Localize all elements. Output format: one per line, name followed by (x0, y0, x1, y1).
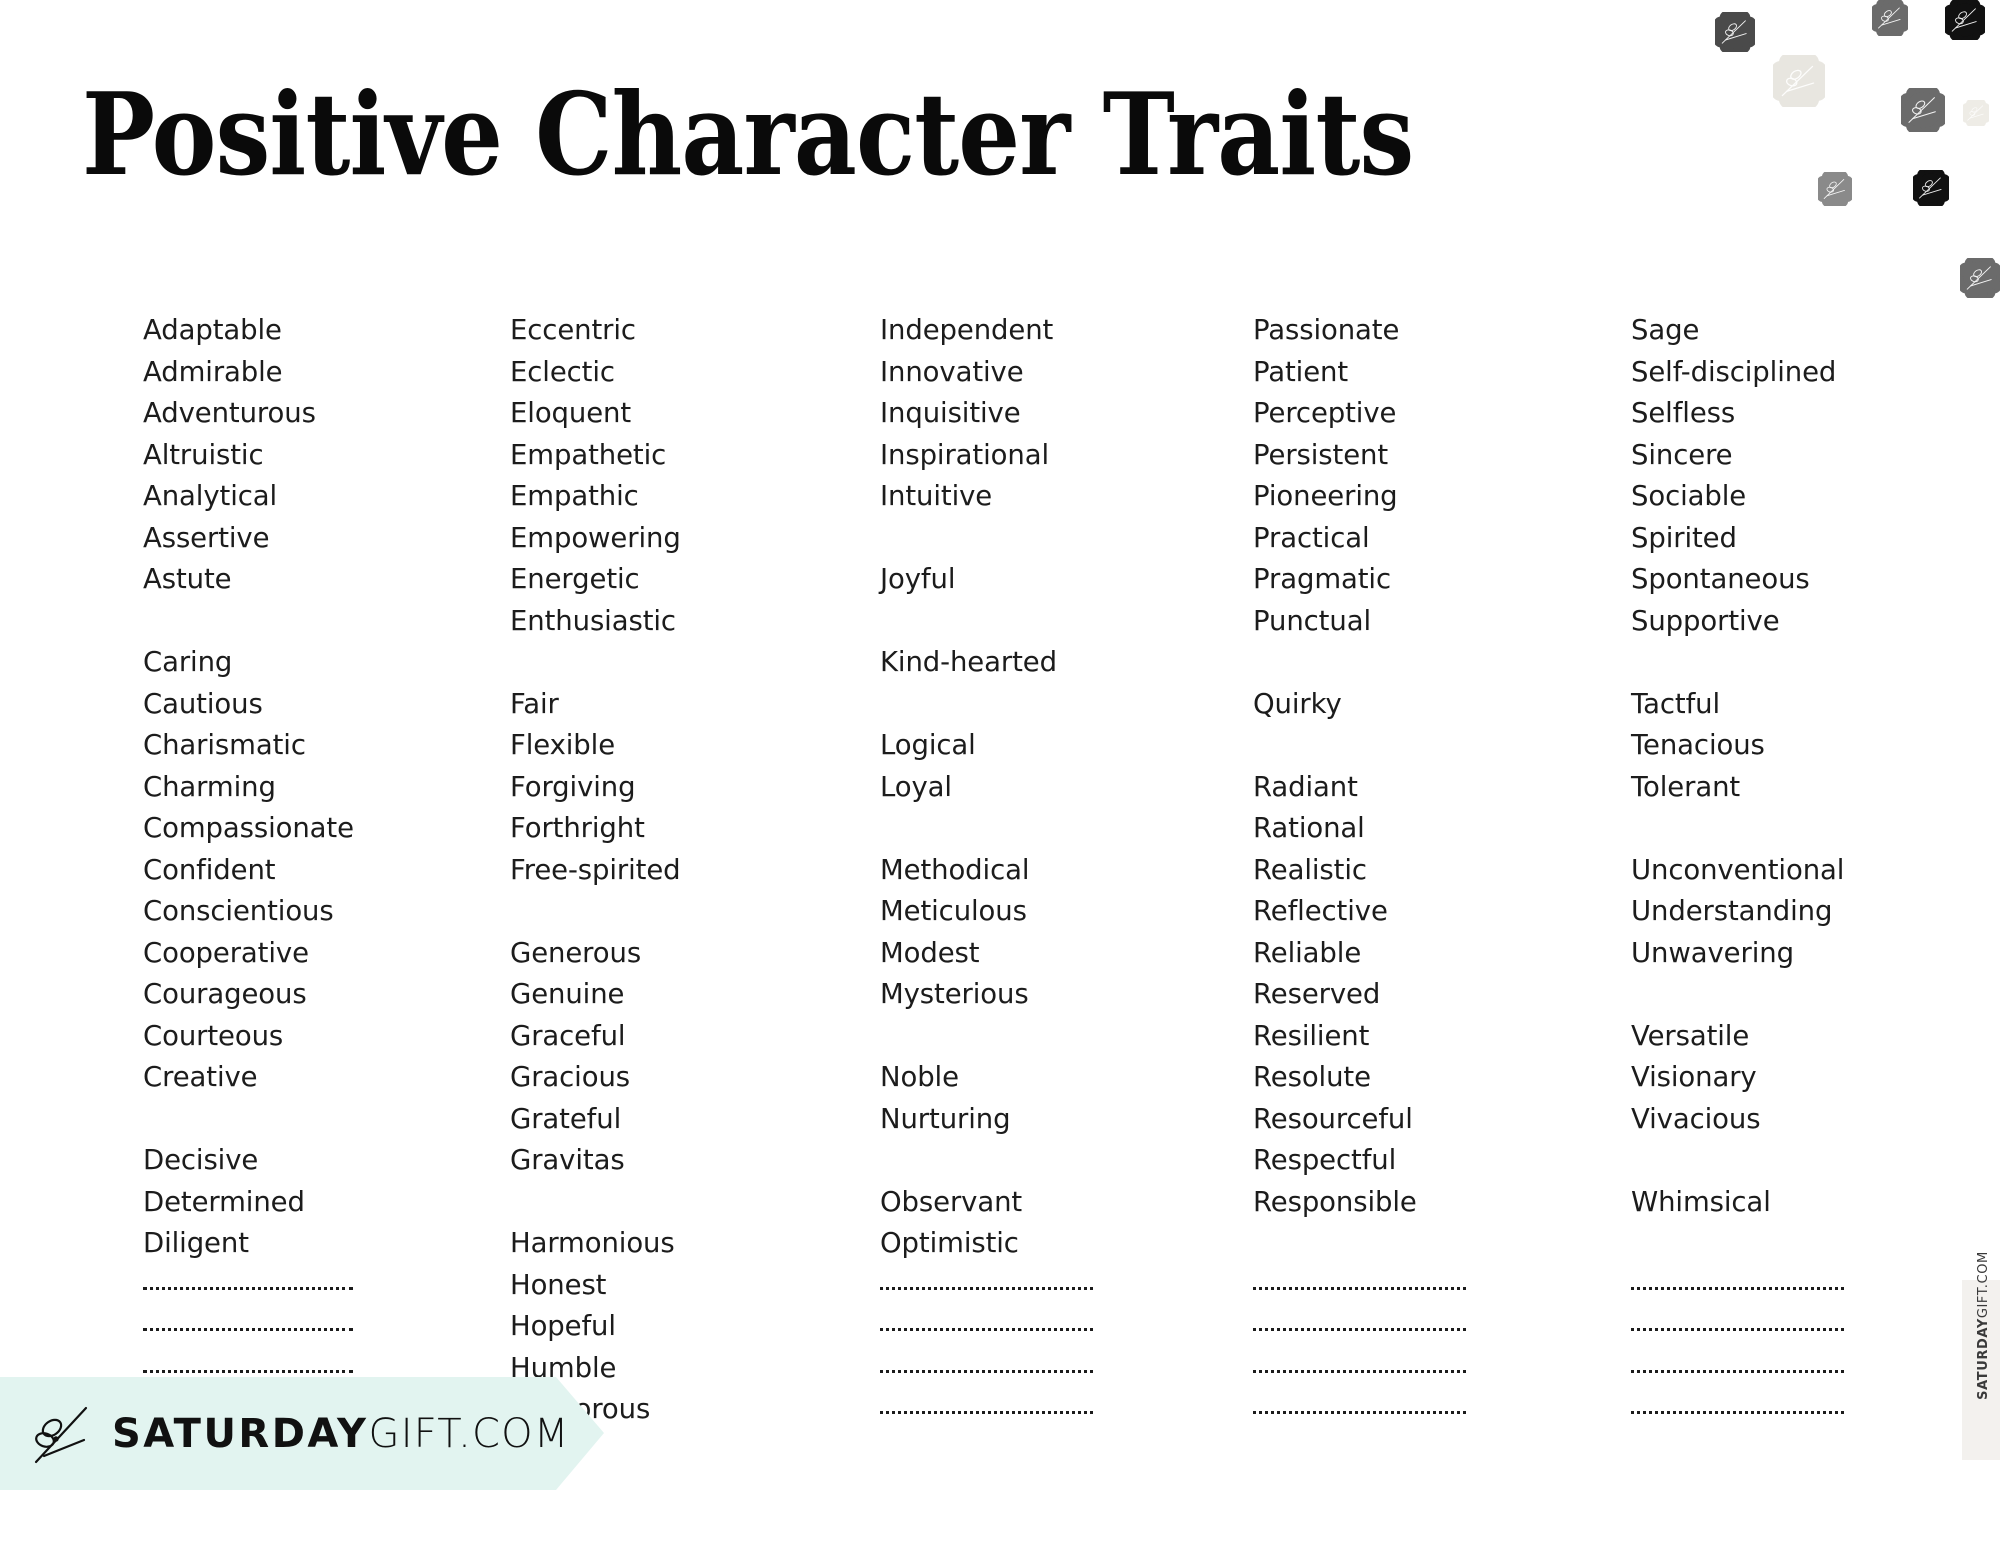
trait-item: Harmonious (510, 1223, 810, 1265)
trait-item: Whimsical (1631, 1182, 1931, 1224)
trait-item: Charismatic (143, 725, 443, 767)
trait-item: Selfless (1631, 393, 1931, 435)
spacer (1631, 642, 1931, 684)
trait-column-5: SageSelf-disciplinedSelflessSincereSocia… (1631, 310, 1931, 1431)
spacer (1631, 974, 1931, 1016)
trait-item: Noble (880, 1057, 1180, 1099)
trait-item: Optimistic (880, 1223, 1180, 1265)
trait-item: Reserved (1253, 974, 1553, 1016)
trait-item: Perceptive (1253, 393, 1553, 435)
scissors-ribbon-icon (30, 1398, 102, 1470)
spacer (880, 1140, 1180, 1182)
trait-item: Courteous (143, 1016, 443, 1058)
trait-item: Observant (880, 1182, 1180, 1224)
spacer (880, 684, 1180, 726)
trait-item: Forgiving (510, 767, 810, 809)
spacer (510, 1182, 810, 1224)
logo-name-bold: SATURDAY (112, 1411, 369, 1457)
logo-name-light: GIFT.COM (369, 1411, 570, 1457)
trait-item: Innovative (880, 352, 1180, 394)
write-in-dotted-line[interactable] (1631, 1389, 1931, 1431)
trait-item: Meticulous (880, 891, 1180, 933)
trait-item: Pioneering (1253, 476, 1553, 518)
trait-item: Tactful (1631, 684, 1931, 726)
trait-item: Energetic (510, 559, 810, 601)
trait-item: Vivacious (1631, 1099, 1931, 1141)
trait-item: Resourceful (1253, 1099, 1553, 1141)
trait-item: Pragmatic (1253, 559, 1553, 601)
spacer (1253, 1223, 1553, 1265)
trait-item: Honest (510, 1265, 810, 1307)
trait-item: Punctual (1253, 601, 1553, 643)
trait-item: Graceful (510, 1016, 810, 1058)
trait-item: Quirky (1253, 684, 1553, 726)
trait-item: Caring (143, 642, 443, 684)
trait-item: Passionate (1253, 310, 1553, 352)
trait-item: Conscientious (143, 891, 443, 933)
trait-item: Independent (880, 310, 1180, 352)
trait-item: Astute (143, 559, 443, 601)
trait-item: Sage (1631, 310, 1931, 352)
trait-item: Genuine (510, 974, 810, 1016)
trait-item: Versatile (1631, 1016, 1931, 1058)
trait-item: Logical (880, 725, 1180, 767)
write-in-dotted-line[interactable] (1631, 1306, 1931, 1348)
trait-item: Admirable (143, 352, 443, 394)
trait-item: Forthright (510, 808, 810, 850)
write-in-dotted-line[interactable] (1253, 1265, 1553, 1307)
write-in-dotted-line[interactable] (1631, 1265, 1931, 1307)
trait-item: Persistent (1253, 435, 1553, 477)
worksheet-page: Positive Character Traits AdaptableAdmir… (0, 0, 2000, 1545)
trait-item: Inquisitive (880, 393, 1180, 435)
trait-column-4: PassionatePatientPerceptivePersistentPio… (1253, 310, 1553, 1431)
trait-item: Flexible (510, 725, 810, 767)
write-in-dotted-line[interactable] (143, 1306, 443, 1348)
trait-item: Eloquent (510, 393, 810, 435)
trait-item: Empowering (510, 518, 810, 560)
spacer (1631, 1223, 1931, 1265)
trait-item: Adaptable (143, 310, 443, 352)
spacer (880, 1016, 1180, 1058)
trait-item: Tenacious (1631, 725, 1931, 767)
trait-item: Self-disciplined (1631, 352, 1931, 394)
edge-watermark-text: SATURDAYGIFT.COM (1976, 1251, 1991, 1400)
trait-item: Inspirational (880, 435, 1180, 477)
trait-item: Joyful (880, 559, 1180, 601)
trait-item: Cooperative (143, 933, 443, 975)
write-in-dotted-line[interactable] (1253, 1389, 1553, 1431)
trait-item: Responsible (1253, 1182, 1553, 1224)
spacer (1253, 642, 1553, 684)
trait-item: Enthusiastic (510, 601, 810, 643)
write-in-dotted-line[interactable] (1253, 1348, 1553, 1390)
trait-item: Creative (143, 1057, 443, 1099)
trait-item: Eclectic (510, 352, 810, 394)
spacer (143, 1099, 443, 1141)
trait-column-2: EccentricEclecticEloquentEmpatheticEmpat… (510, 310, 810, 1431)
watermark-light: GIFT.COM (1976, 1251, 1991, 1318)
trait-item: Realistic (1253, 850, 1553, 892)
trait-item: Adventurous (143, 393, 443, 435)
trait-item: Understanding (1631, 891, 1931, 933)
trait-item: Spirited (1631, 518, 1931, 560)
trait-item: Resilient (1253, 1016, 1553, 1058)
trait-item: Cautious (143, 684, 443, 726)
trait-item: Nurturing (880, 1099, 1180, 1141)
spacer (1253, 725, 1553, 767)
trait-item: Modest (880, 933, 1180, 975)
trait-item: Gracious (510, 1057, 810, 1099)
write-in-dotted-line[interactable] (880, 1306, 1180, 1348)
spacer (510, 891, 810, 933)
write-in-dotted-line[interactable] (880, 1389, 1180, 1431)
write-in-dotted-line[interactable] (143, 1265, 443, 1307)
trait-item: Respectful (1253, 1140, 1553, 1182)
trait-item: Eccentric (510, 310, 810, 352)
trait-item: Generous (510, 933, 810, 975)
trait-column-1: AdaptableAdmirableAdventurousAltruisticA… (143, 310, 443, 1431)
trait-item: Sociable (1631, 476, 1931, 518)
spacer (880, 518, 1180, 560)
trait-item: Supportive (1631, 601, 1931, 643)
trait-item: Reliable (1253, 933, 1553, 975)
trait-item: Loyal (880, 767, 1180, 809)
trait-columns: AdaptableAdmirableAdventurousAltruisticA… (0, 0, 2000, 1545)
trait-item: Compassionate (143, 808, 443, 850)
trait-item: Charming (143, 767, 443, 809)
trait-item: Unconventional (1631, 850, 1931, 892)
trait-item: Patient (1253, 352, 1553, 394)
spacer (880, 808, 1180, 850)
trait-item: Free-spirited (510, 850, 810, 892)
trait-item: Radiant (1253, 767, 1553, 809)
trait-item: Fair (510, 684, 810, 726)
spacer (1631, 808, 1931, 850)
trait-item: Analytical (143, 476, 443, 518)
trait-item: Decisive (143, 1140, 443, 1182)
write-in-dotted-line[interactable] (880, 1265, 1180, 1307)
trait-item: Spontaneous (1631, 559, 1931, 601)
trait-column-3: IndependentInnovativeInquisitiveInspirat… (880, 310, 1180, 1431)
write-in-dotted-line[interactable] (1631, 1348, 1931, 1390)
trait-item: Determined (143, 1182, 443, 1224)
trait-item: Courageous (143, 974, 443, 1016)
site-logo[interactable]: SATURDAYGIFT.COM (0, 1377, 604, 1490)
trait-item: Grateful (510, 1099, 810, 1141)
trait-item: Sincere (1631, 435, 1931, 477)
trait-item: Gravitas (510, 1140, 810, 1182)
trait-item: Rational (1253, 808, 1553, 850)
spacer (510, 642, 810, 684)
spacer (880, 601, 1180, 643)
trait-item: Kind-hearted (880, 642, 1180, 684)
trait-item: Practical (1253, 518, 1553, 560)
trait-item: Altruistic (143, 435, 443, 477)
trait-item: Tolerant (1631, 767, 1931, 809)
trait-item: Hopeful (510, 1306, 810, 1348)
trait-item: Mysterious (880, 974, 1180, 1016)
spacer (143, 601, 443, 643)
trait-item: Visionary (1631, 1057, 1931, 1099)
trait-item: Diligent (143, 1223, 443, 1265)
trait-item: Empathic (510, 476, 810, 518)
write-in-dotted-line[interactable] (880, 1348, 1180, 1390)
trait-item: Unwavering (1631, 933, 1931, 975)
trait-item: Intuitive (880, 476, 1180, 518)
trait-item: Methodical (880, 850, 1180, 892)
trait-item: Assertive (143, 518, 443, 560)
logo-wordmark: SATURDAYGIFT.COM (112, 1411, 570, 1457)
trait-item: Reflective (1253, 891, 1553, 933)
watermark-bold: SATURDAY (1976, 1318, 1991, 1400)
trait-item: Empathetic (510, 435, 810, 477)
write-in-dotted-line[interactable] (1253, 1306, 1553, 1348)
trait-item: Confident (143, 850, 443, 892)
spacer (1631, 1140, 1931, 1182)
trait-item: Resolute (1253, 1057, 1553, 1099)
